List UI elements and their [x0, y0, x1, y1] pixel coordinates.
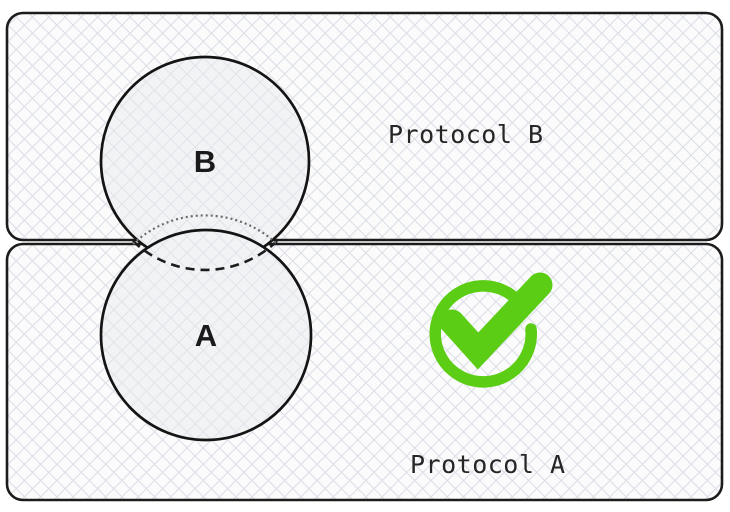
set-circle-a-label: A — [195, 318, 217, 353]
panel-protocol-a-label: Protocol A — [410, 450, 566, 479]
set-circle-b-label: B — [194, 144, 216, 179]
venn-diagram-svg: Protocol B Protocol A B A — [0, 0, 730, 512]
set-circle-a[interactable]: A — [101, 230, 311, 440]
panel-protocol-b-label: Protocol B — [388, 120, 544, 149]
diagram-canvas: Protocol B Protocol A B A — [0, 0, 730, 512]
